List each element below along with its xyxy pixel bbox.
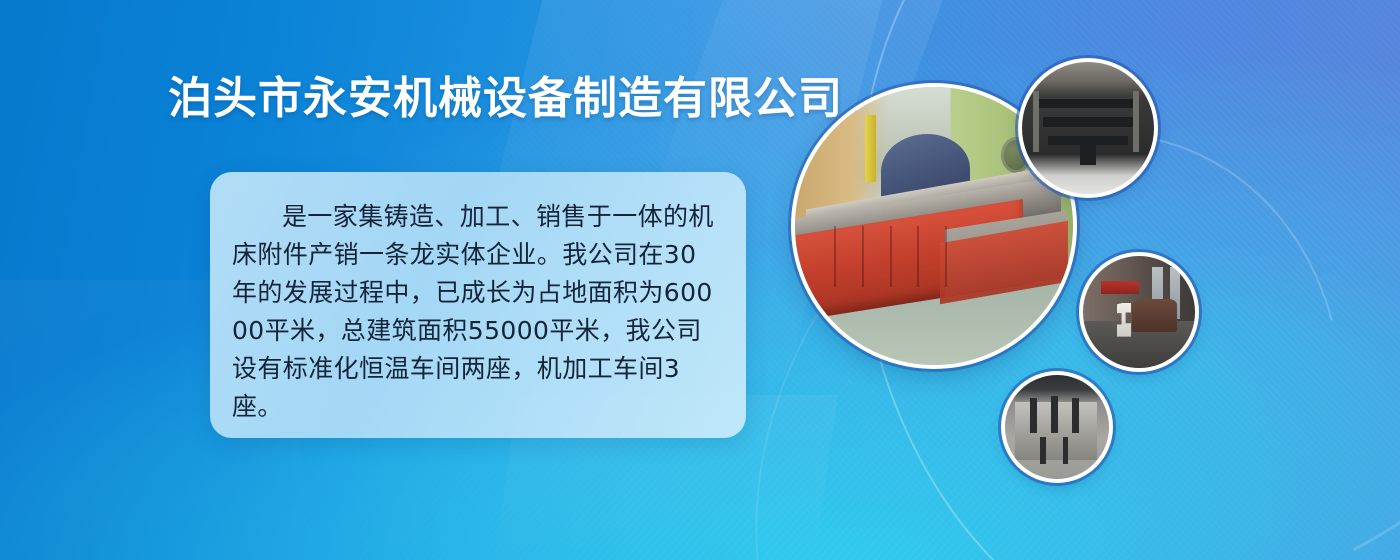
photo-detail-block-slot (1072, 398, 1079, 433)
photo-circle-cast-frame-top-view (1022, 62, 1154, 194)
photo-detail-frame-tab (1080, 141, 1096, 165)
photo-detail-rib (834, 226, 836, 287)
photo-foundry-workshop (1083, 256, 1195, 368)
photo-detail-rib (890, 226, 892, 287)
photo-detail-block-slot (1040, 437, 1045, 464)
company-intro-card: 是一家集铸造、加工、销售于一体的机床附件产销一条龙实体企业。我公司在30年的发展… (210, 172, 746, 438)
company-profile-banner: 泊头市永安机械设备制造有限公司 是一家集铸造、加工、销售于一体的机床附件产销一条… (0, 0, 1400, 560)
photo-circle-stacked-cast-blocks (1005, 375, 1109, 479)
photo-detail-dark-vessel (1132, 299, 1177, 333)
photo-detail-yellow-post (865, 115, 876, 182)
photo-detail-rib (945, 226, 947, 287)
photo-detail-frame-bar (1043, 117, 1133, 126)
photo-cast-frame-top-view (1022, 62, 1154, 194)
company-title: 泊头市永安机械设备制造有限公司 (168, 74, 843, 123)
photo-detail-white-structure (1117, 303, 1132, 337)
photo-detail-frame-edge-right (1133, 91, 1140, 152)
photo-detail-block-slot (1063, 437, 1068, 464)
photo-detail-red-signboard (1101, 281, 1139, 294)
company-intro-text: 是一家集铸造、加工、销售于一体的机床附件产销一条龙实体企业。我公司在30年的发展… (232, 198, 716, 426)
photo-stacked-cast-blocks (1005, 375, 1109, 479)
photo-circle-foundry-workshop (1083, 256, 1195, 368)
photo-detail-rib (862, 226, 864, 287)
photo-detail-frame-edge-left (1033, 91, 1040, 152)
photo-detail-block-slot (1051, 396, 1058, 433)
photo-detail-block-slot (1030, 398, 1037, 433)
photo-detail-frame-bar (1038, 99, 1138, 108)
